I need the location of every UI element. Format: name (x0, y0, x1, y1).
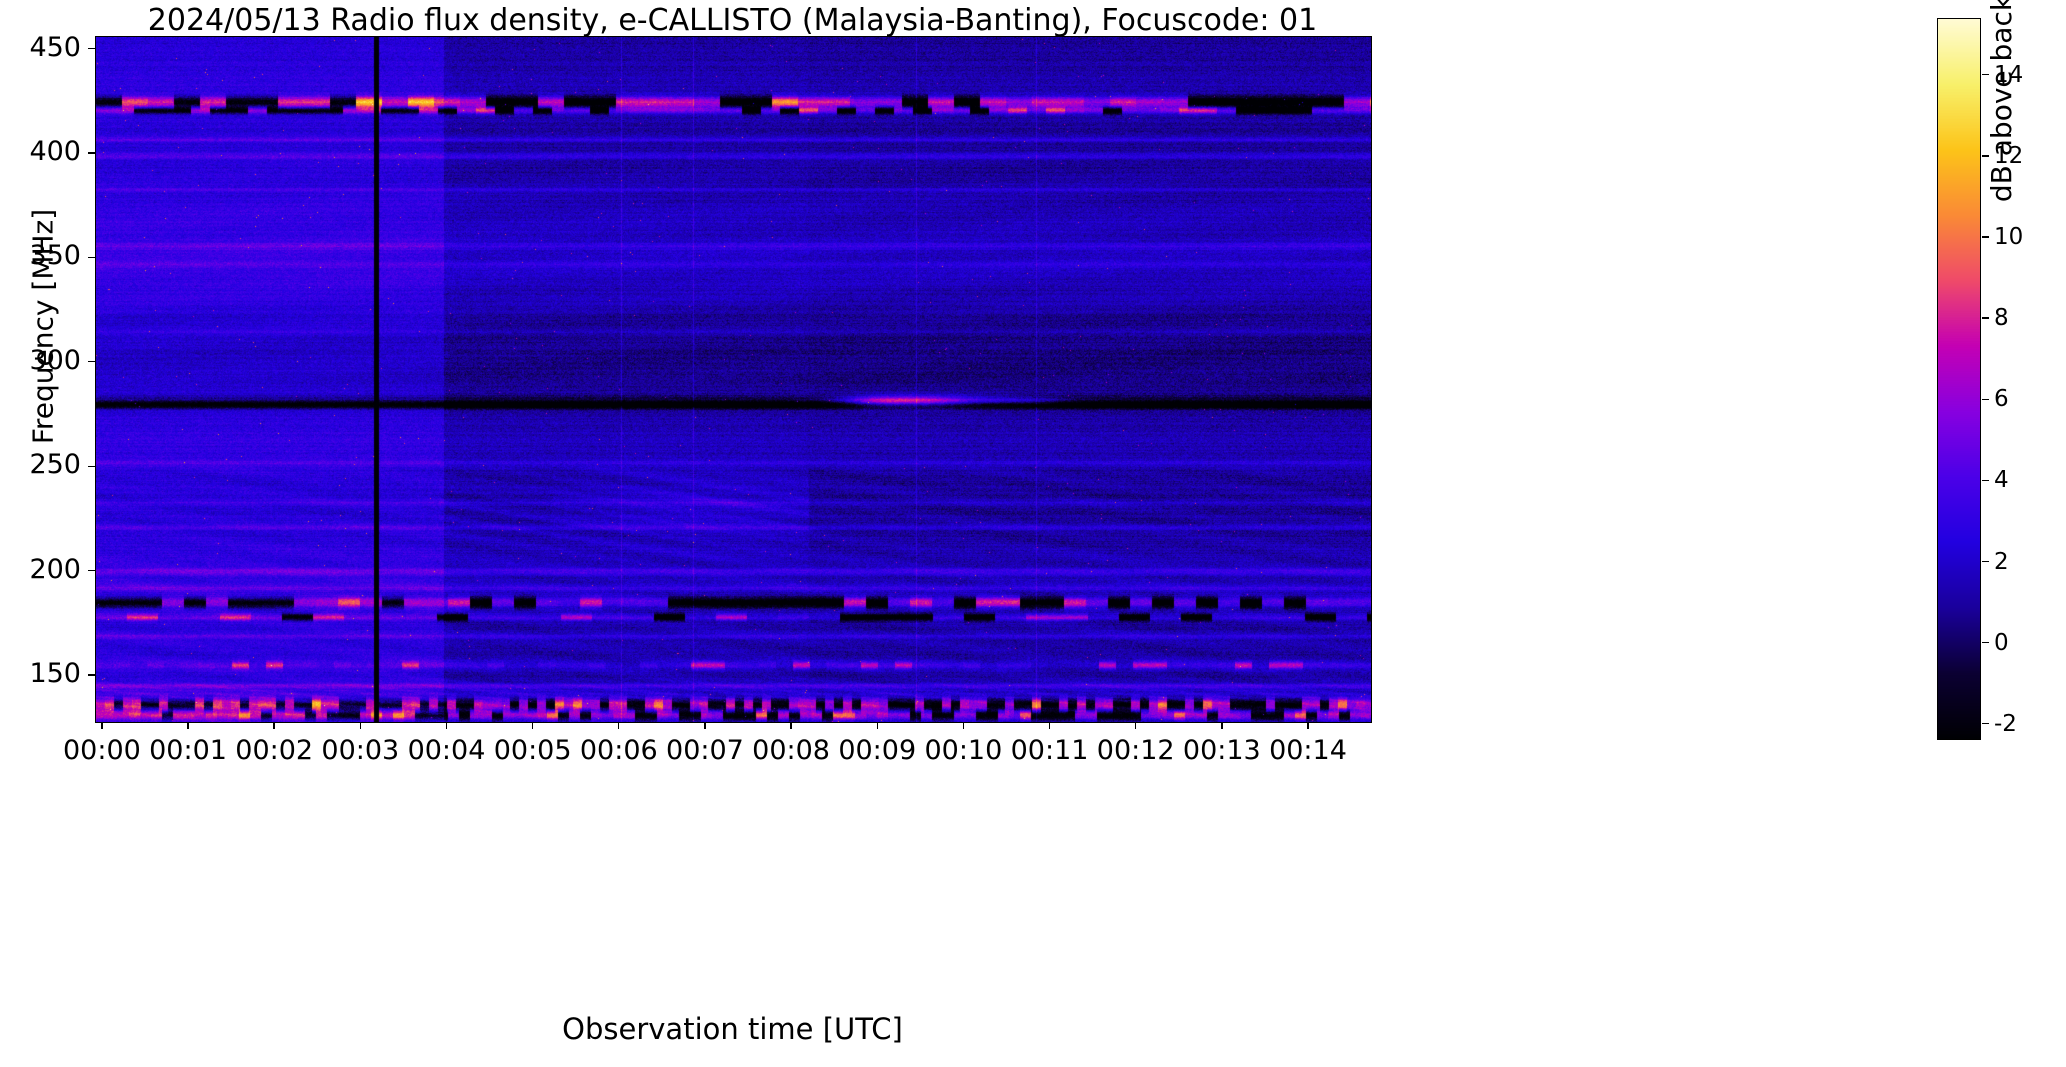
x-axis-tick-mark (360, 722, 361, 729)
x-axis-tick-mark (1307, 722, 1308, 729)
x-axis-tick-mark (273, 722, 274, 729)
x-axis-tick-label: 00:12 (1097, 735, 1175, 766)
colorbar-tick-label: 0 (1994, 630, 2009, 656)
colorbar-tick-mark (1982, 723, 1989, 724)
y-axis-tick-label: 150 (0, 658, 81, 689)
page-title: 2024/05/13 Radio flux density, e-CALLIST… (95, 4, 1370, 38)
x-axis-tick-mark (101, 722, 102, 729)
x-axis-tick-mark (618, 722, 619, 729)
colorbar-tick-label: 2 (1994, 549, 2009, 575)
x-axis-tick-label: 00:01 (149, 735, 227, 766)
x-axis-tick-label: 00:11 (1011, 735, 1089, 766)
y-axis-tick-mark (88, 466, 95, 467)
figure-canvas: 2024/05/13 Radio flux density, e-CALLIST… (0, 0, 2066, 1067)
x-axis-tick-label: 00:07 (666, 735, 744, 766)
spectrogram-axes[interactable] (95, 36, 1372, 723)
x-axis-tick-label: 00:02 (235, 735, 313, 766)
x-axis-tick-mark (187, 722, 188, 729)
x-axis-tick-mark (446, 722, 447, 729)
y-axis-tick-mark (88, 48, 95, 49)
y-axis-label: Frequency [MHz] (27, 167, 60, 487)
x-axis-tick-mark (963, 722, 964, 729)
x-axis-tick-label: 00:06 (580, 735, 658, 766)
y-axis-tick-mark (88, 257, 95, 258)
colorbar-tick-label: 10 (1994, 224, 2023, 250)
colorbar-tick-mark (1982, 236, 1989, 237)
x-axis-tick-mark (790, 722, 791, 729)
x-axis-tick-label: 00:14 (1269, 735, 1347, 766)
colorbar-tick-mark (1982, 317, 1989, 318)
y-axis-tick-mark (88, 674, 95, 675)
colorbar-gradient (1938, 19, 1980, 739)
x-axis-tick-label: 00:09 (838, 735, 916, 766)
x-axis-tick-label: 00:13 (1183, 735, 1261, 766)
x-axis-tick-mark (877, 722, 878, 729)
x-axis-tick-mark (1049, 722, 1050, 729)
x-axis-tick-label: 00:03 (321, 735, 399, 766)
x-axis-tick-mark (704, 722, 705, 729)
x-axis-tick-label: 00:08 (752, 735, 830, 766)
colorbar-label: dB above background (1985, 0, 2018, 214)
x-axis-tick-mark (1221, 722, 1222, 729)
y-axis-tick-mark (88, 361, 95, 362)
colorbar-tick-mark (1982, 480, 1989, 481)
y-axis-tick-label: 400 (0, 136, 81, 167)
y-axis-tick-label: 450 (0, 32, 81, 63)
colorbar-tick-label: 6 (1994, 386, 2009, 412)
spectrogram-image[interactable] (96, 37, 1371, 722)
x-axis-tick-mark (532, 722, 533, 729)
colorbar-tick-mark (1982, 642, 1989, 643)
colorbar-tick-mark (1982, 561, 1989, 562)
x-axis-label: Observation time [UTC] (95, 1012, 1370, 1046)
colorbar-tick-label: -2 (1994, 711, 2017, 737)
y-axis-tick-mark (88, 152, 95, 153)
colorbar-tick-mark (1982, 399, 1989, 400)
x-axis-tick-label: 00:10 (924, 735, 1002, 766)
y-axis-tick-label: 200 (0, 554, 81, 585)
x-axis-tick-mark (1135, 722, 1136, 729)
colorbar-tick-label: 4 (1994, 467, 2009, 493)
x-axis-tick-label: 00:00 (63, 735, 141, 766)
y-axis-tick-mark (88, 570, 95, 571)
x-axis-tick-label: 00:05 (494, 735, 572, 766)
colorbar-container: 14121086420-2 (1937, 18, 1981, 740)
colorbar[interactable] (1937, 18, 1981, 740)
colorbar-tick-label: 8 (1994, 305, 2009, 331)
x-axis-tick-label: 00:04 (408, 735, 486, 766)
